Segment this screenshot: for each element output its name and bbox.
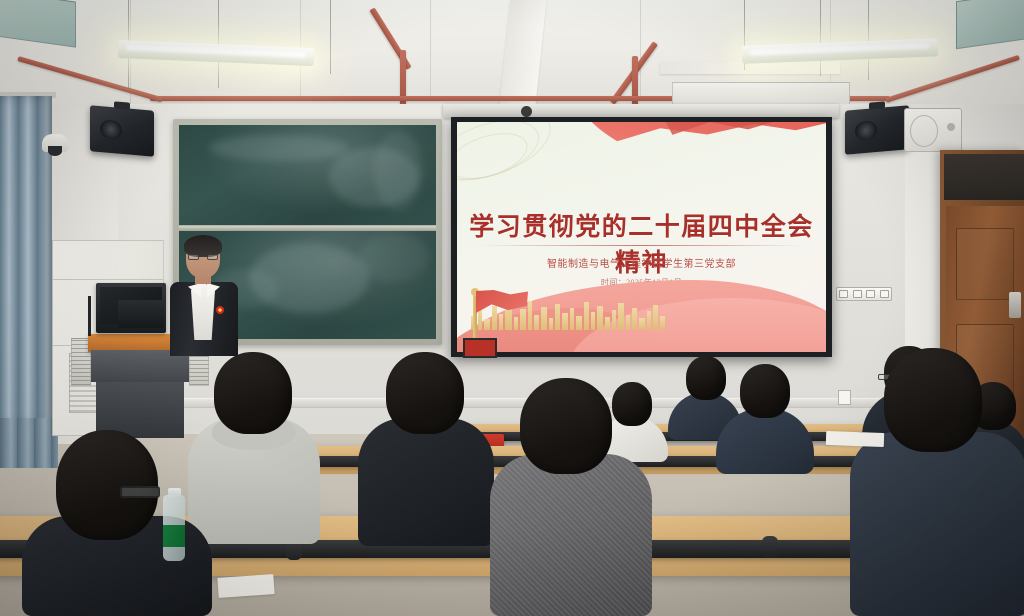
presenter-speaker: [168, 238, 240, 356]
ceiling-light-left: [118, 40, 315, 66]
podium-equipment: [118, 300, 164, 328]
paper-sheet[interactable]: [217, 574, 274, 598]
outlet-socket[interactable]: [853, 290, 862, 298]
student-torso: [850, 432, 1024, 616]
student-torso: [358, 418, 494, 546]
student-head: [214, 352, 292, 434]
student-black-jacket: [358, 352, 494, 546]
speaker-bracket-right: [869, 101, 884, 109]
student-navy-right: [716, 364, 814, 474]
blackboard-panel-upper: [179, 125, 436, 225]
wall-outlet-strip[interactable]: [836, 287, 892, 301]
student-torso: [490, 454, 652, 616]
ac-vent-top-right: [956, 0, 1024, 49]
ceiling-light-right: [742, 38, 939, 64]
desk-rail-knob-2: [762, 536, 778, 558]
student-head: [884, 348, 982, 452]
slide-title-rule: [479, 245, 804, 246]
screen-roller-knob-icon: [521, 106, 532, 117]
glasses-icon: [188, 254, 218, 260]
door-panel-upper: [956, 228, 1014, 300]
paper-sheet-right[interactable]: [826, 431, 884, 447]
air-conditioner-vent: [904, 108, 962, 152]
ceiling-beam-2: [660, 62, 840, 74]
party-emblem-badge: [216, 306, 224, 314]
classroom-scene: 学习贯彻党的二十届四中全会精神 智能制造与电气工程学院学生第三党支部 时间：20…: [0, 0, 1024, 616]
student-far-right: [850, 348, 1024, 616]
student-head: [520, 378, 612, 474]
student-head: [386, 352, 464, 434]
wall-pipe-right: [885, 55, 1020, 103]
projection-screen-housing: [443, 104, 839, 118]
glasses-icon: [120, 486, 160, 498]
outlet-socket[interactable]: [866, 290, 875, 298]
presentation-slide: 学习贯彻党的二十届四中全会精神 智能制造与电气工程学院学生第三党支部 时间：20…: [457, 122, 826, 352]
dome-camera-icon: [42, 134, 68, 152]
wall-speaker-left: [90, 105, 154, 157]
outlet-socket[interactable]: [839, 290, 848, 298]
door-transom-window: [944, 154, 1024, 200]
ceiling-duct-box: [672, 82, 850, 106]
wall-speaker-right: [845, 105, 909, 155]
speaker-bracket-left: [114, 101, 129, 109]
student-center-front: [490, 378, 652, 616]
slide-wave-top-right: [572, 122, 826, 187]
slide-subtitle: 智能制造与电气工程学院学生第三党支部: [457, 255, 826, 270]
ceiling: [0, 0, 1024, 112]
student-head: [740, 364, 790, 418]
ceiling-beam: [500, 0, 547, 104]
student-head: [56, 430, 158, 540]
water-bottle-label: [163, 525, 185, 547]
ac-vent-top-left: [0, 0, 76, 48]
gooseneck-microphone: [88, 296, 91, 336]
outlet-socket[interactable]: [880, 290, 889, 298]
projection-screen: 学习贯彻党的二十届四中全会精神 智能制造与电气工程学院学生第三党支部 时间：20…: [451, 117, 832, 357]
blackboard-divider: [179, 226, 436, 231]
door-handle[interactable]: [1009, 292, 1021, 318]
